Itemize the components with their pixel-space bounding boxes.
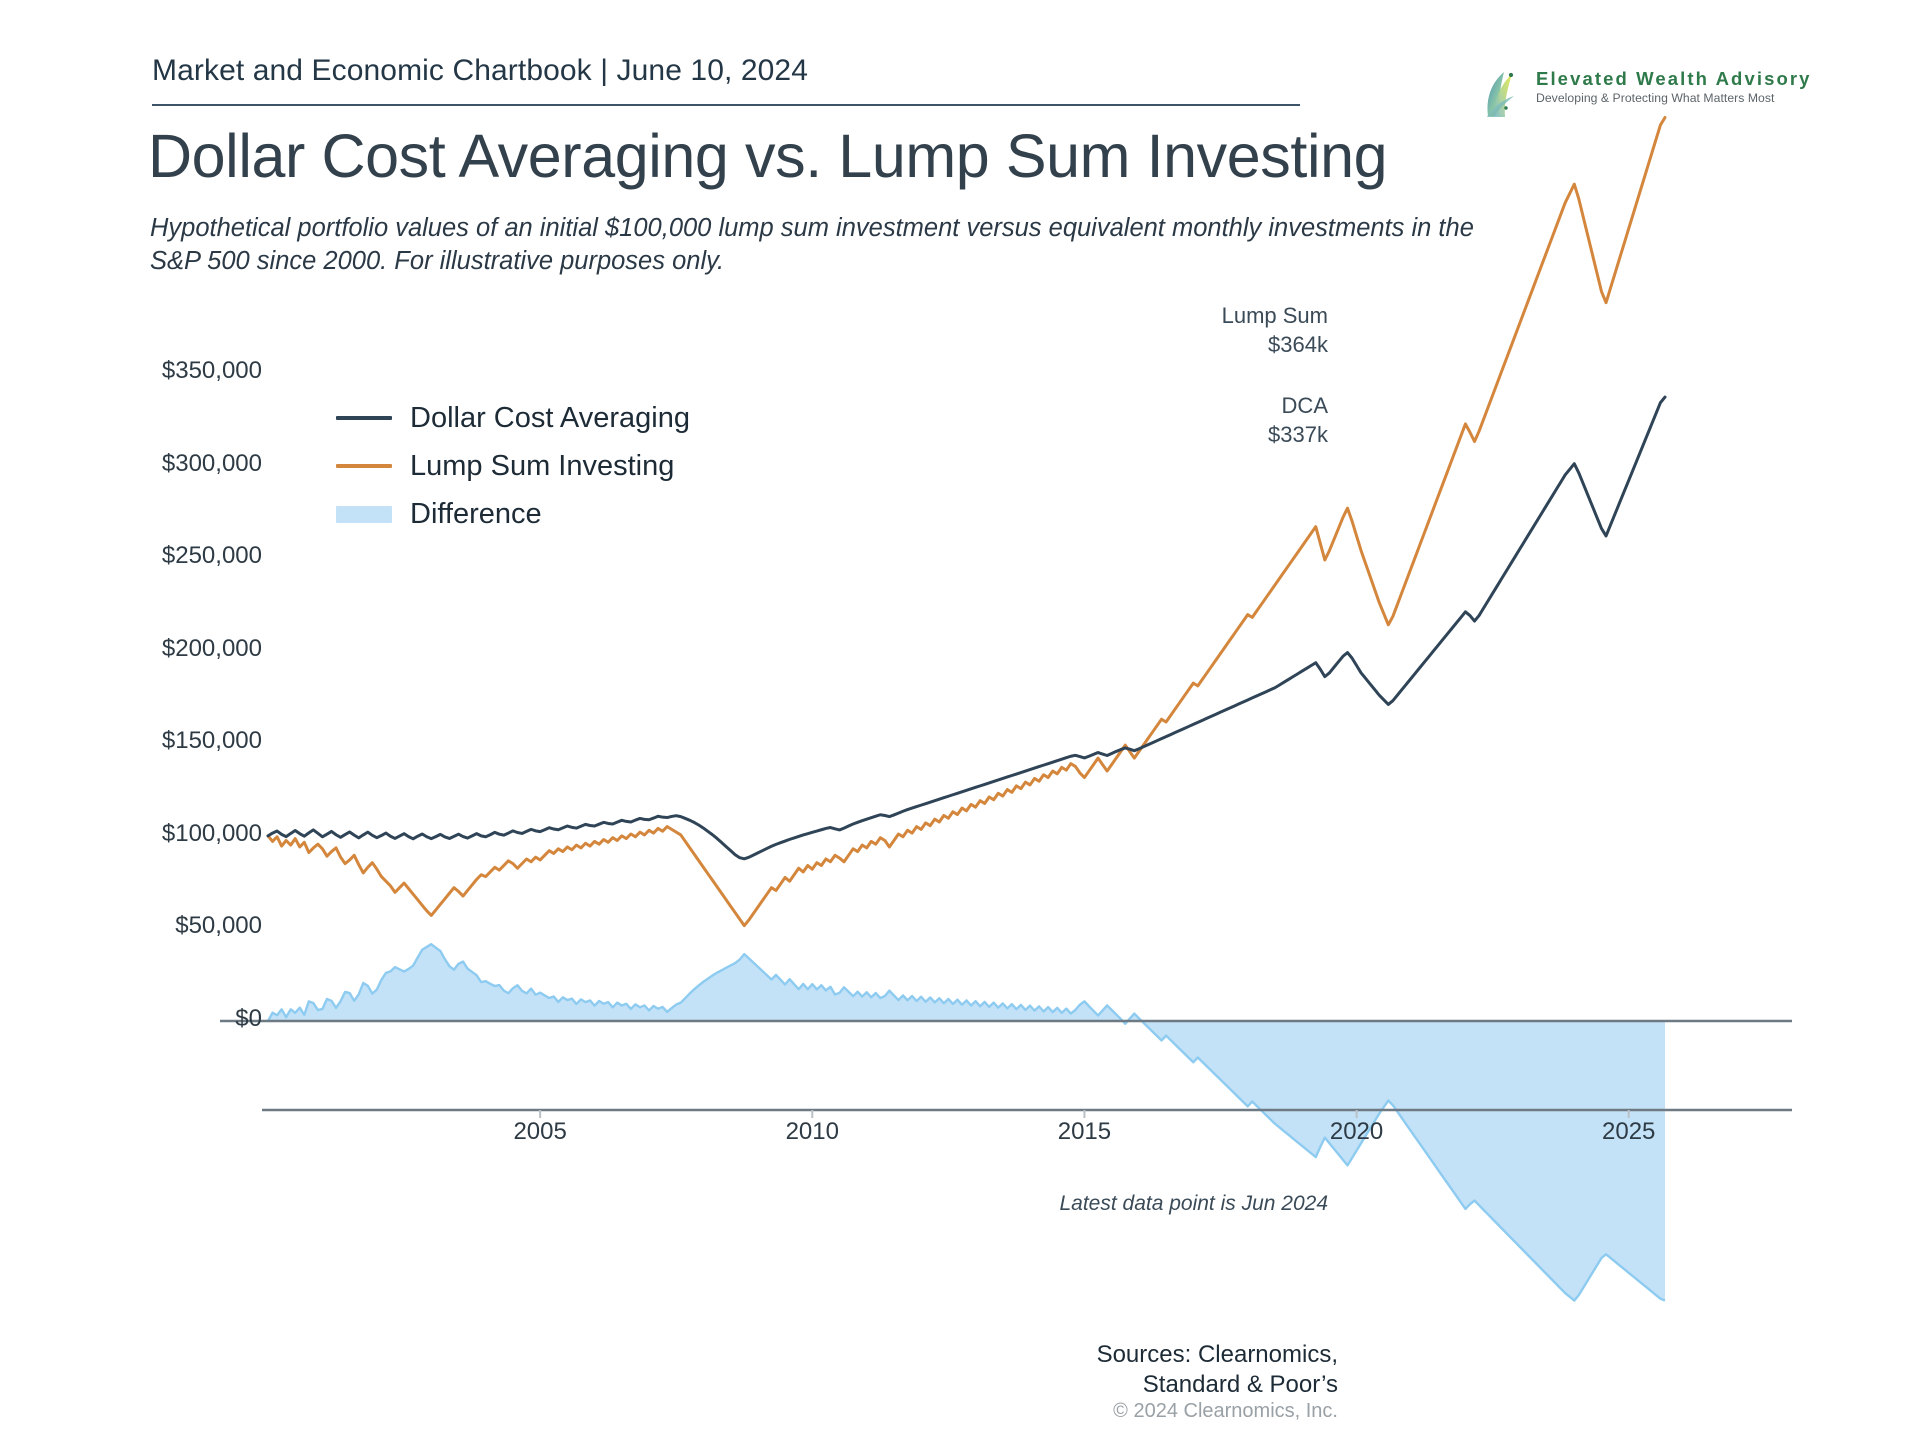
y-axis-tick-label: $100,000 (162, 820, 262, 848)
annotation-dca: DCA $337k (1268, 392, 1328, 449)
y-axis-tick-label: $250,000 (162, 542, 262, 570)
y-axis-tick-label: $350,000 (162, 357, 262, 385)
x-axis-tick-label: 2005 (480, 1118, 600, 1146)
annotation-lump-sum: Lump Sum $364k (1222, 302, 1328, 359)
legend-item-dca[interactable]: Dollar Cost Averaging (336, 394, 690, 442)
legend-label-difference: Difference (410, 498, 542, 531)
legend-label-lump-sum: Lump Sum Investing (410, 450, 674, 483)
x-axis-tick-label: 2010 (752, 1118, 872, 1146)
chartbook-label: Market and Economic Chartbook | June 10,… (152, 54, 808, 88)
page-subtitle: Hypothetical portfolio values of an init… (150, 212, 1480, 278)
annotation-lump-sum-value: $364k (1222, 331, 1328, 360)
brand-name: Elevated Wealth Advisory (1536, 68, 1786, 89)
latest-data-point-note: Latest data point is Jun 2024 (1059, 1192, 1328, 1216)
legend-item-difference[interactable]: Difference (336, 490, 690, 538)
x-axis-tick-label: 2020 (1297, 1118, 1417, 1146)
leaf-swoosh-icon (1478, 66, 1534, 122)
legend-swatch-difference (336, 506, 392, 523)
sources-line-1: Sources: Clearnomics, (1097, 1340, 1338, 1370)
y-axis-tick-label: $0 (235, 1005, 262, 1033)
legend-swatch-lump-sum (336, 464, 392, 468)
difference-area-series (268, 944, 1665, 1300)
x-axis-tick-label: 2015 (1024, 1118, 1144, 1146)
y-axis-tick-label: $200,000 (162, 635, 262, 663)
header-divider (152, 104, 1300, 106)
annotation-dca-label: DCA (1268, 392, 1328, 421)
chart-legend: Dollar Cost Averaging Lump Sum Investing… (336, 394, 690, 538)
copyright-note: © 2024 Clearnomics, Inc. (1113, 1400, 1338, 1423)
page-title: Dollar Cost Averaging vs. Lump Sum Inves… (148, 124, 1387, 189)
page-header: Market and Economic Chartbook | June 10,… (0, 0, 1920, 118)
y-axis-tick-label: $50,000 (175, 912, 262, 940)
sources-line-2: Standard & Poor’s (1097, 1370, 1338, 1400)
x-axis-tick-label: 2025 (1569, 1118, 1689, 1146)
legend-swatch-dca (336, 416, 392, 420)
brand-tagline: Developing & Protecting What Matters Mos… (1536, 91, 1786, 105)
brand-text: Elevated Wealth Advisory Developing & Pr… (1536, 68, 1786, 105)
y-axis-tick-label: $150,000 (162, 727, 262, 755)
brand-logo: Elevated Wealth Advisory Developing & Pr… (1478, 66, 1788, 122)
annotation-lump-sum-label: Lump Sum (1222, 302, 1328, 331)
y-axis-tick-label: $300,000 (162, 450, 262, 478)
sources-note: Sources: Clearnomics, Standard & Poor’s (1097, 1340, 1338, 1400)
legend-item-lump-sum[interactable]: Lump Sum Investing (336, 442, 690, 490)
annotation-dca-value: $337k (1268, 421, 1328, 450)
legend-label-dca: Dollar Cost Averaging (410, 402, 690, 435)
